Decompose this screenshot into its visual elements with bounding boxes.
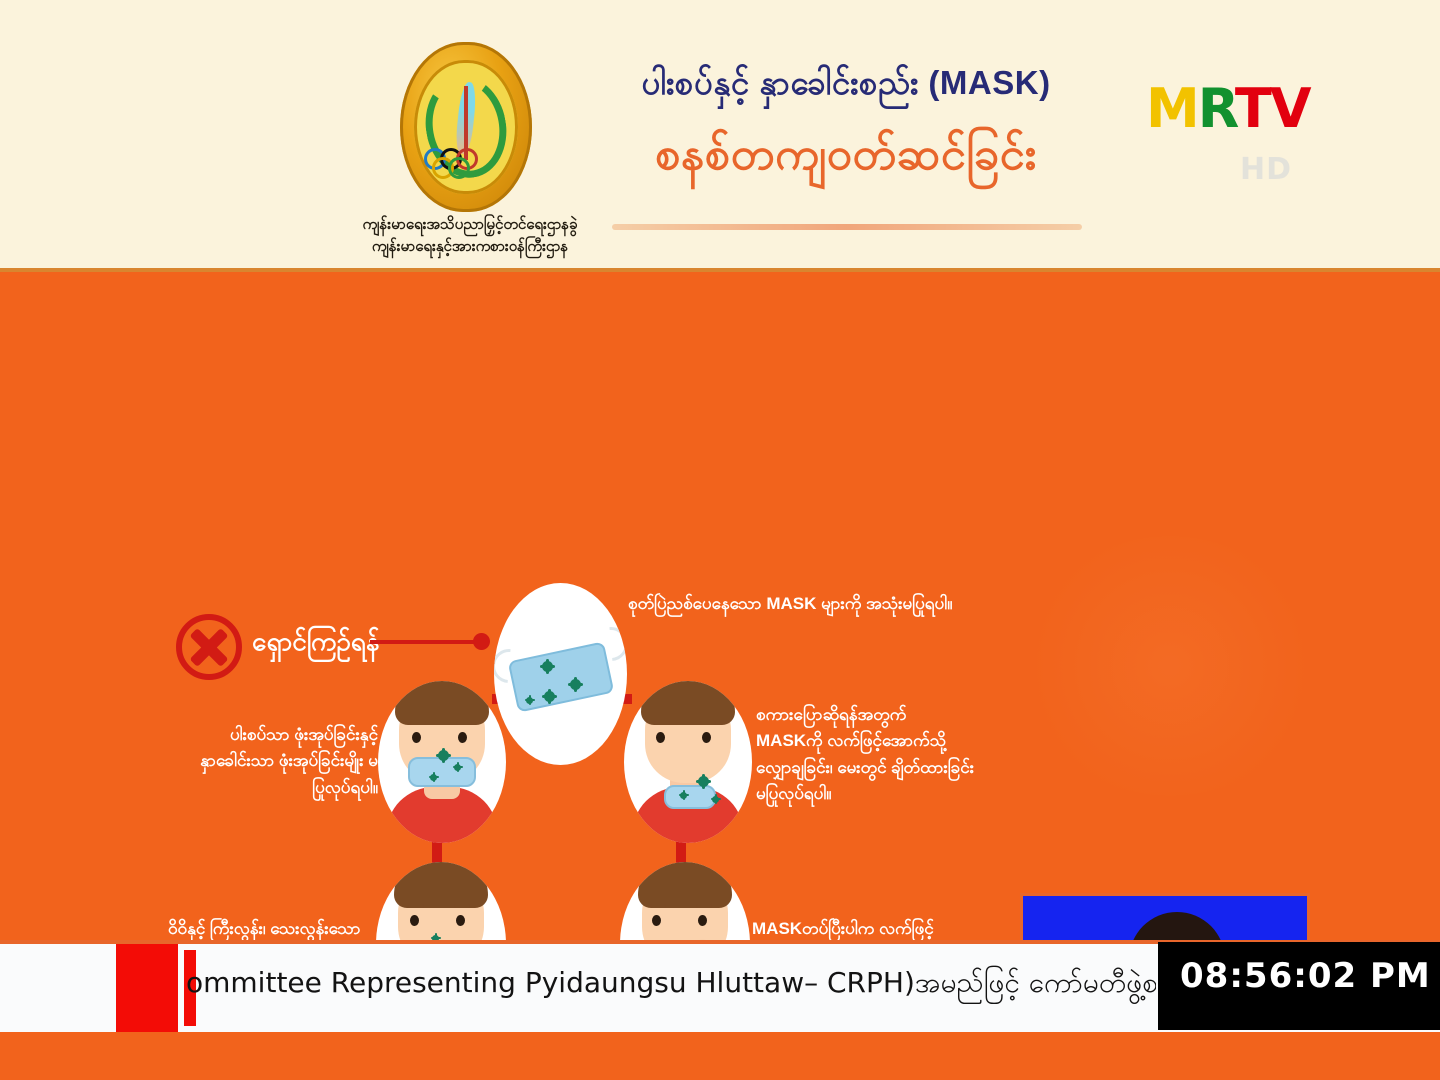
info-text-ill-fitting-mask: ဝိဝိနှင့် ကြီးလွန်း၊ သေးလွန်းသော MASKမျာ… xyxy=(168,916,390,940)
background-watermark xyxy=(1020,536,1320,796)
ministry-name-block: ကျန်းမာရေးအသိပညာမြှင့်တင်ရေးဌာနခွဲ ကျန်း… xyxy=(300,214,640,258)
ministry-line-2: ကျန်းမာရေးနှင့်အားကစားဝန်ကြီးဌာန xyxy=(300,236,640,258)
illustration-mask-below-nose xyxy=(378,681,506,843)
infographic-stage: ရှောင်ကြဉ်ရန် xyxy=(0,276,1440,940)
sign-language-interpreter-window xyxy=(1020,893,1310,940)
ticker-headline-text: ommittee Representing Pyidaungsu Hluttaw… xyxy=(186,954,1156,1012)
hd-badge: HD xyxy=(1240,152,1292,187)
title-line-1: ပါးစပ်နှင့် နှာခေါင်းစည်း (MASK) xyxy=(596,62,1096,111)
logo-letter-r: R xyxy=(1198,77,1235,140)
germ-icon xyxy=(542,661,553,672)
title-line-2: စနစ်တကျဝတ်ဆင်ခြင်း xyxy=(596,125,1096,191)
logo-letter-m: M xyxy=(1146,77,1198,140)
title-underline-rule xyxy=(612,224,1082,230)
germ-icon xyxy=(544,691,555,702)
illustration-mask-on-chin xyxy=(624,681,752,843)
germ-icon xyxy=(698,776,709,787)
germ-icon xyxy=(526,697,533,704)
info-text-mask-on-chin: စကားပြောဆိုရန်အတွက် MASKကို လက်ဖြင့်အောက… xyxy=(756,702,976,807)
info-text-dirty-mask: စုတ်ပြဲညစ်ပေနေသော MASK များကို အသုံးမပြု… xyxy=(628,591,958,617)
germ-icon xyxy=(680,792,687,799)
program-title-block: ပါးစပ်နှင့် နှာခေါင်းစည်း (MASK) စနစ်တကျ… xyxy=(596,62,1096,191)
germ-icon xyxy=(454,764,461,771)
olympic-rings-icon xyxy=(424,148,508,172)
logo-letters-tv: TV xyxy=(1235,77,1310,140)
germ-icon xyxy=(430,774,437,781)
mrtv-channel-logo: MRTV xyxy=(1146,82,1310,136)
prohibition-x-icon xyxy=(176,614,242,680)
avoid-connector-line xyxy=(370,640,480,644)
illustration-dirty-mask xyxy=(494,583,627,765)
ministry-line-1: ကျန်းမာရေးအသိပညာမြှင့်တင်ရေးဌာနခွဲ xyxy=(300,214,640,236)
dirty-mask-shape xyxy=(508,641,615,712)
avoid-label: ရှောင်ကြဉ်ရန် xyxy=(252,624,379,663)
germ-icon xyxy=(712,796,719,803)
ministry-emblem xyxy=(400,42,532,212)
illustration-touching-mask xyxy=(620,862,750,940)
mask-shape xyxy=(664,785,716,809)
info-text-mask-below-nose: ပါးစပ်သာ ဖုံးအုပ်ခြင်းနှင့် နှာခေါင်းသာ … xyxy=(178,722,378,801)
germ-icon xyxy=(438,750,449,761)
interpreter-hair xyxy=(1129,912,1225,940)
avoid-connector-dot xyxy=(473,633,490,650)
germ-icon xyxy=(570,679,581,690)
ticker-red-block xyxy=(116,944,178,1036)
bottom-orange-strip xyxy=(0,1032,1440,1080)
info-text-touching-mask: MASKတပ်ပြီးပါက လက်ဖြင့် ကိုင်တွယ်ခြင်း မ… xyxy=(752,916,952,940)
clock-panel: 08:56:02 PM xyxy=(1158,942,1440,1030)
illustration-ill-fitting-mask xyxy=(376,862,506,940)
program-header-band: ကျန်းမာရေးအသိပညာမြှင့်တင်ရေးဌာနခွဲ ကျန်း… xyxy=(0,0,1440,272)
clock-time: 08:56:02 PM xyxy=(1180,956,1431,996)
